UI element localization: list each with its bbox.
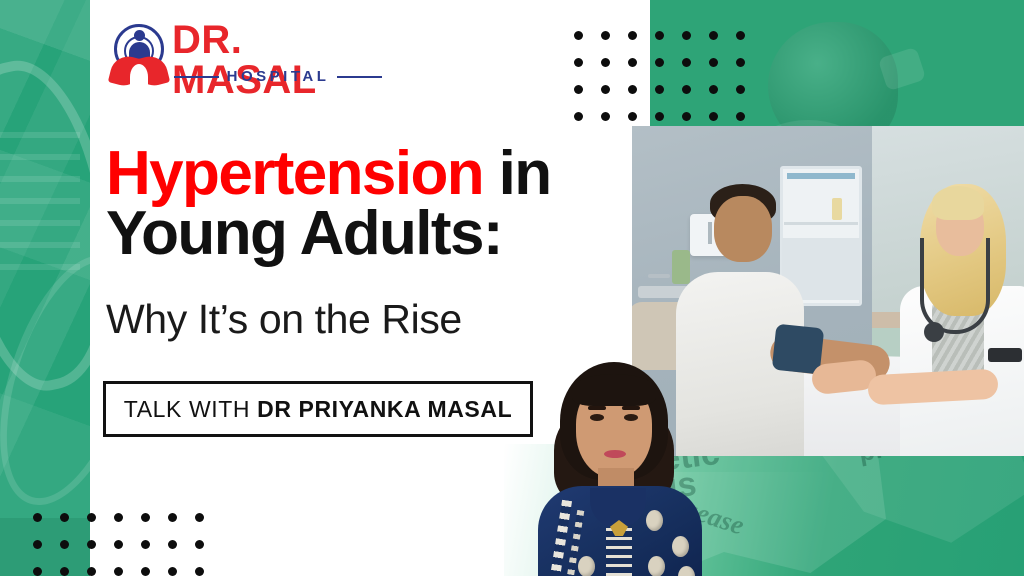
decor-dot xyxy=(33,513,42,522)
decor-dot xyxy=(628,85,637,94)
decor-dot xyxy=(682,31,691,40)
decor-dot xyxy=(574,85,583,94)
decor-dot xyxy=(655,58,664,67)
photo-soap-bottle xyxy=(672,250,690,284)
portrait-lips xyxy=(604,450,626,458)
decor-dot xyxy=(114,567,123,576)
decor-dot xyxy=(709,85,718,94)
logo-subtitle: HOSPITAL xyxy=(227,68,330,85)
logo-rule-right xyxy=(337,76,382,78)
decor-dot xyxy=(33,567,42,576)
hands-cradling-family-circle-icon xyxy=(110,24,168,86)
hospital-logo[interactable]: DR. MASAL HOSPITAL xyxy=(110,22,380,88)
photo-cabinet-shelf xyxy=(784,222,858,225)
decor-dot xyxy=(628,112,637,121)
portrait-eyebrow-left xyxy=(588,406,606,410)
decor-dot xyxy=(628,31,637,40)
headline-highlight: Hypertension xyxy=(106,139,483,208)
left-green-photo-strip xyxy=(0,0,90,576)
logo-brand-name: DR. MASAL xyxy=(172,20,380,100)
photo-bp-monitor-device xyxy=(988,348,1022,362)
photo-faucet xyxy=(648,274,670,278)
decor-dot xyxy=(195,540,204,549)
decor-dot xyxy=(141,567,150,576)
portrait-fringe xyxy=(572,374,656,406)
decor-dot xyxy=(736,85,745,94)
decor-dot xyxy=(87,513,96,522)
portrait-button xyxy=(578,556,595,576)
decor-dot xyxy=(682,112,691,121)
cta-text: TALK WITH DR PRIYANKA MASAL xyxy=(124,396,513,423)
photo-medicine-bottle xyxy=(832,198,842,220)
decor-dot xyxy=(574,58,583,67)
decor-dot xyxy=(709,112,718,121)
decor-dot xyxy=(601,112,610,121)
photo-stethoscope xyxy=(920,238,990,334)
headline-line-2: Young Adults: xyxy=(106,204,646,264)
decor-dot xyxy=(601,58,610,67)
portrait-eye-left xyxy=(590,414,604,421)
photo-stethoscope-chestpiece xyxy=(924,322,944,342)
decor-dot xyxy=(87,567,96,576)
decor-dot xyxy=(601,31,610,40)
headline-line-1-rest: in xyxy=(483,139,551,208)
decor-dot xyxy=(601,85,610,94)
photo-doctor-fringe xyxy=(932,186,984,220)
decor-dot xyxy=(60,567,69,576)
decor-dot xyxy=(141,540,150,549)
decor-dot xyxy=(736,31,745,40)
headline-block: Hypertension in Young Adults: xyxy=(106,144,646,264)
decor-dot xyxy=(114,513,123,522)
decor-dot xyxy=(736,112,745,121)
decor-dot xyxy=(655,85,664,94)
decor-dot xyxy=(628,58,637,67)
decor-dot xyxy=(114,540,123,549)
doctor-portrait-cutout xyxy=(520,360,710,576)
decor-dot xyxy=(655,31,664,40)
decor-dot xyxy=(709,31,718,40)
decor-dot xyxy=(655,112,664,121)
cta-doctor-name: DR PRIYANKA MASAL xyxy=(257,396,512,422)
banner-canvas: retic ugs pressure Heart disease xyxy=(0,0,1024,576)
portrait-button xyxy=(646,510,663,531)
portrait-button xyxy=(648,556,665,576)
decor-dot xyxy=(60,513,69,522)
decor-dot xyxy=(736,58,745,67)
decor-dot xyxy=(168,513,177,522)
decor-dot xyxy=(87,540,96,549)
dot-grid-top-right xyxy=(574,31,745,121)
logo-subtitle-row: HOSPITAL xyxy=(174,68,382,85)
decor-dot xyxy=(141,513,150,522)
decor-dot xyxy=(195,567,204,576)
portrait-eyebrow-right xyxy=(622,406,640,410)
decor-dot xyxy=(195,513,204,522)
cta-box[interactable]: TALK WITH DR PRIYANKA MASAL xyxy=(103,381,533,437)
logo-rule-left xyxy=(174,76,219,78)
decor-dot xyxy=(574,31,583,40)
decor-dot xyxy=(574,112,583,121)
decor-dot xyxy=(168,567,177,576)
dot-grid-bottom-left xyxy=(33,513,204,576)
subheadline: Why It’s on the Rise xyxy=(106,296,462,343)
decor-dot xyxy=(60,540,69,549)
cta-prefix: TALK WITH xyxy=(124,396,257,422)
portrait-eye-right xyxy=(624,414,638,421)
decor-dot xyxy=(682,58,691,67)
photo-patient-face xyxy=(714,196,772,262)
decor-dot xyxy=(709,58,718,67)
decor-dot xyxy=(33,540,42,549)
decor-dot xyxy=(682,85,691,94)
portrait-button xyxy=(672,536,689,557)
headline-line-1: Hypertension in xyxy=(106,144,646,204)
decor-dot xyxy=(168,540,177,549)
